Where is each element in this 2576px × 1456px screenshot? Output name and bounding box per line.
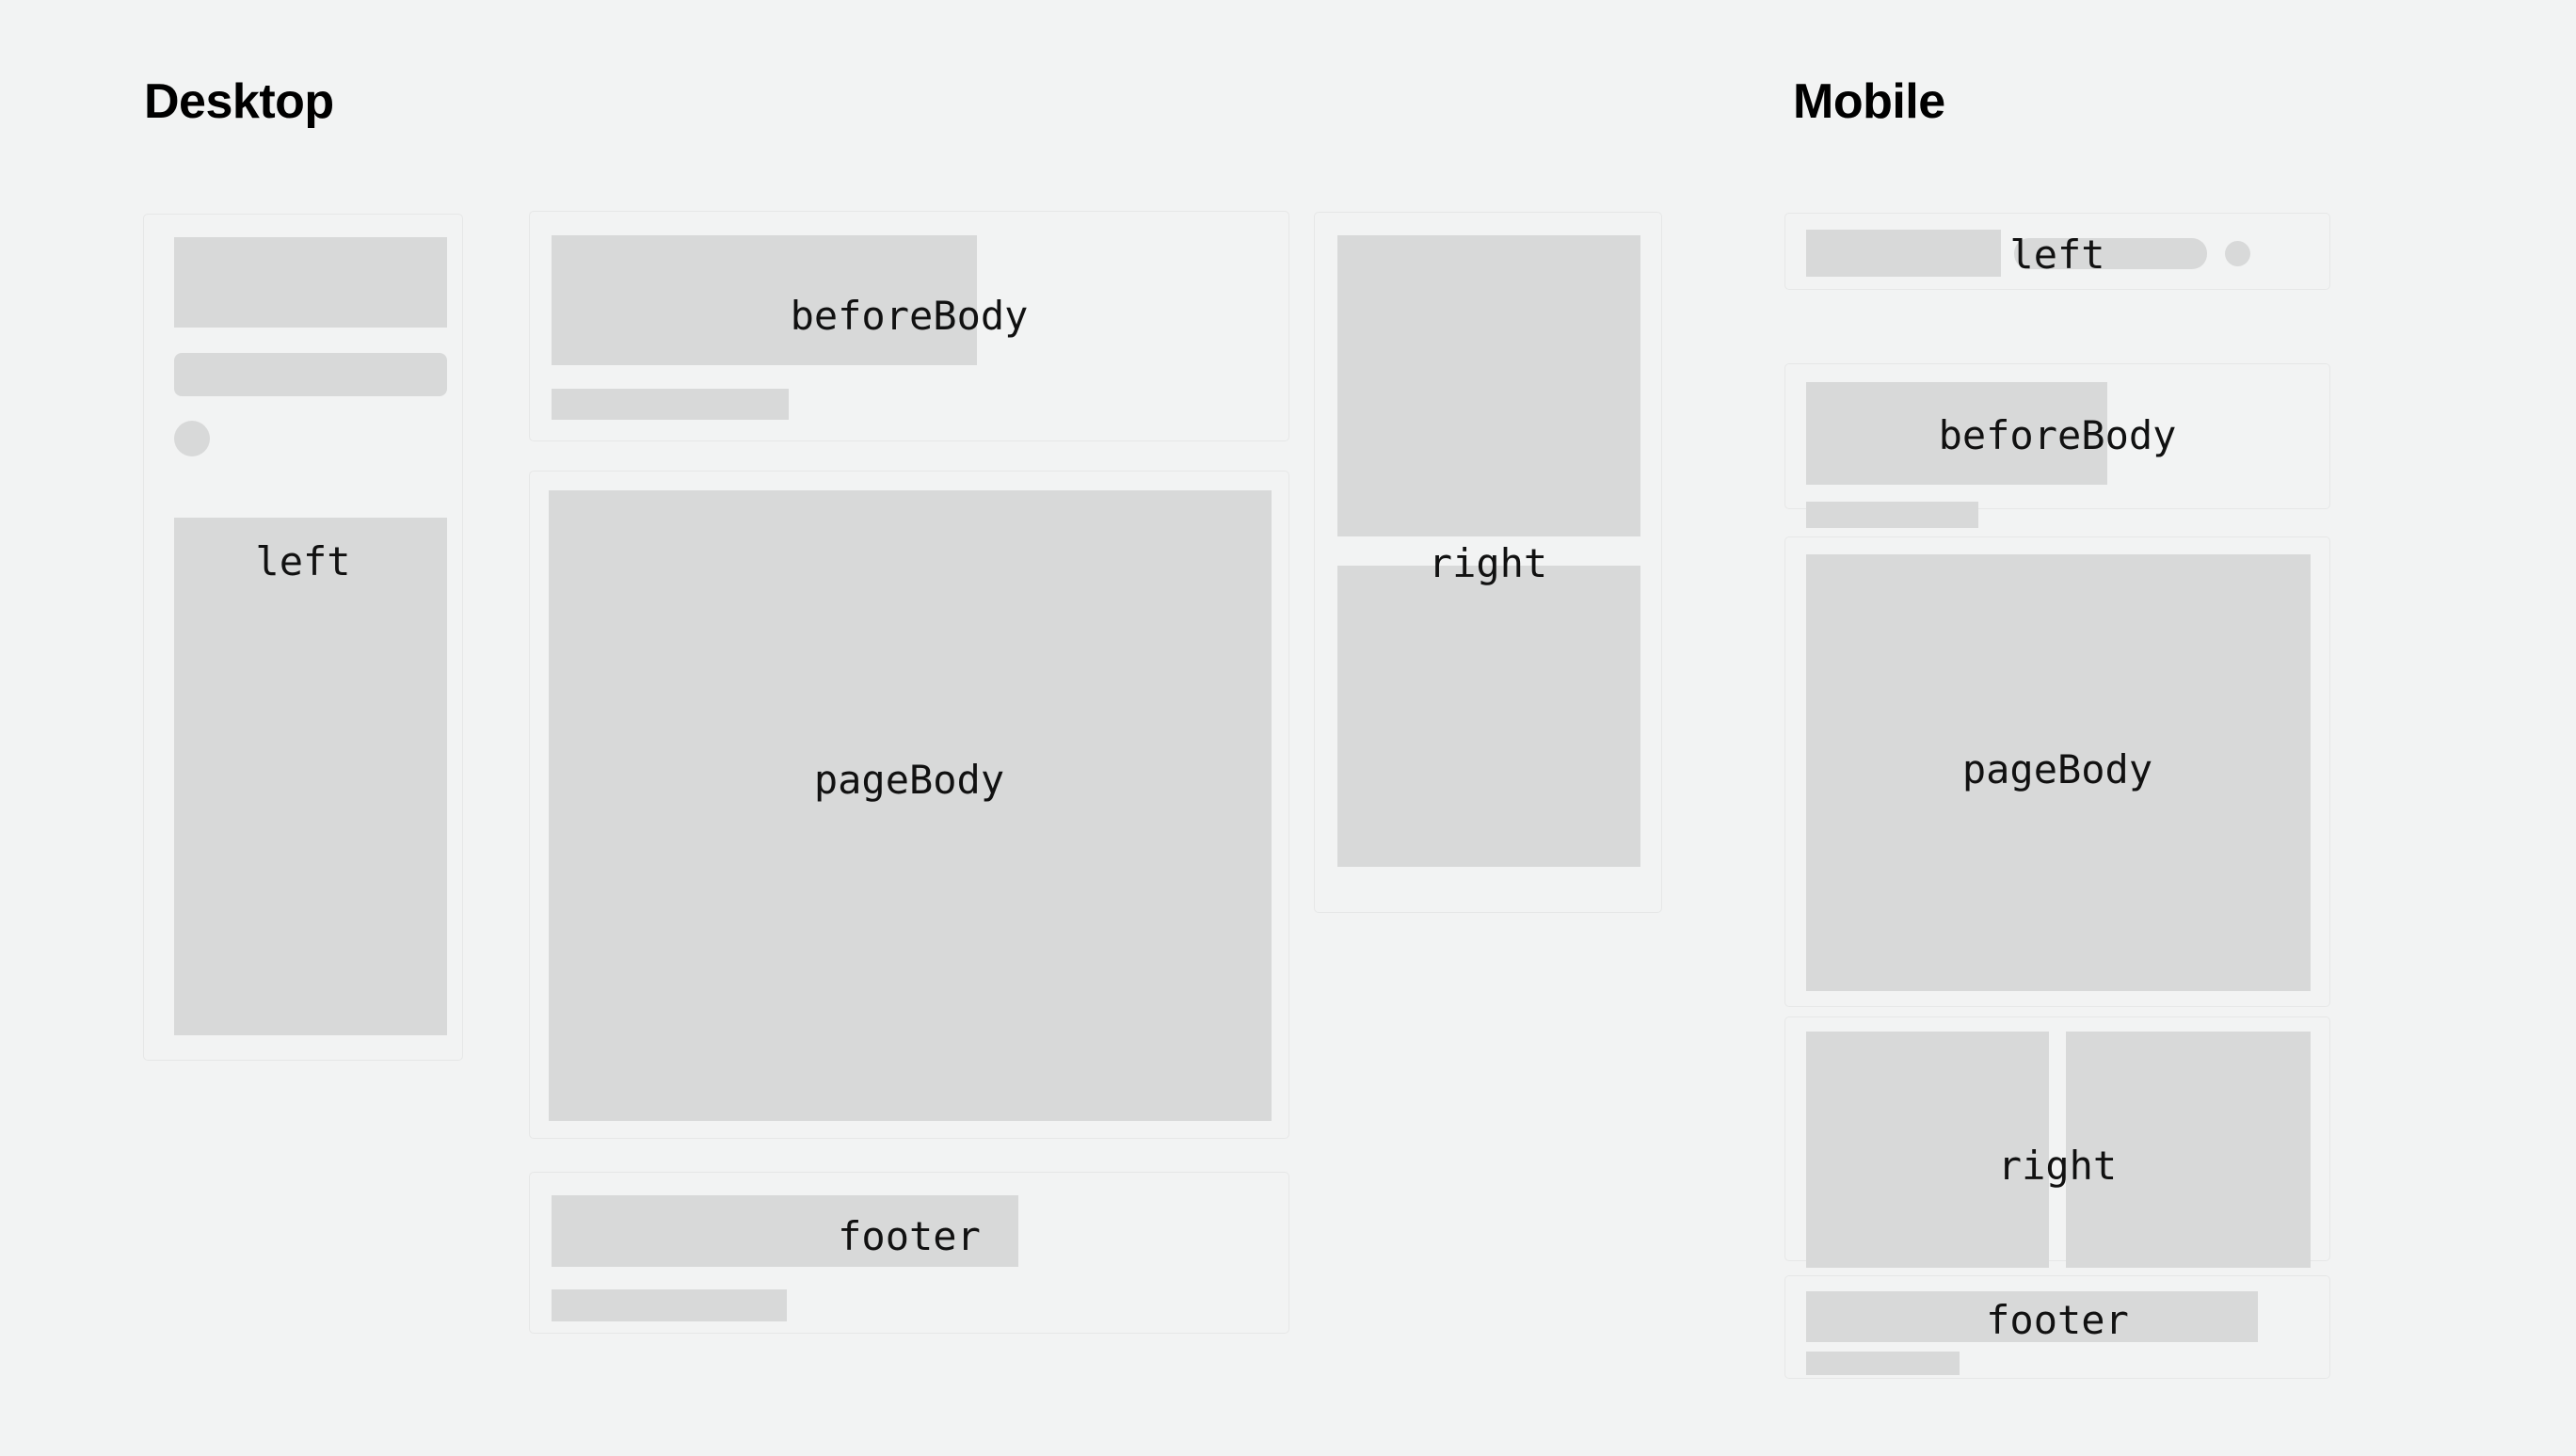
skeleton-pill [2014, 238, 2207, 269]
skeleton-block-large [549, 490, 1272, 1121]
skeleton-block-tall [174, 518, 447, 1035]
skeleton-block-large [1806, 554, 2311, 991]
skeleton-block [174, 237, 447, 328]
skeleton-block [1337, 235, 1640, 536]
skeleton-block [1806, 382, 2107, 485]
desktop-left-slot-panel[interactable] [143, 214, 463, 1061]
mobile-footer-slot-panel[interactable] [1784, 1275, 2330, 1379]
skeleton-block [1337, 566, 1640, 867]
skeleton-block [552, 1195, 1018, 1267]
skeleton-pill [174, 353, 447, 396]
skeleton-block [1806, 1032, 2049, 1268]
skeleton-bar [552, 1289, 787, 1321]
skeleton-circle-avatar [2225, 241, 2250, 266]
mobile-right-slot-panel[interactable] [1784, 1016, 2330, 1261]
skeleton-bar [1806, 1352, 1960, 1375]
mobile-page-body-slot-panel[interactable] [1784, 536, 2330, 1007]
skeleton-block [2066, 1032, 2311, 1268]
page-title-mobile: Mobile [1793, 77, 1945, 126]
skeleton-bar [1806, 502, 1978, 528]
skeleton-circle-avatar [174, 421, 210, 456]
desktop-right-slot-panel[interactable] [1314, 212, 1662, 913]
mobile-left-slot-panel[interactable] [1784, 213, 2330, 290]
skeleton-block [1806, 1291, 2258, 1342]
desktop-before-body-slot-panel[interactable] [529, 211, 1289, 441]
desktop-footer-slot-panel[interactable] [529, 1172, 1289, 1334]
skeleton-block [552, 235, 977, 365]
page-title-desktop: Desktop [144, 77, 334, 126]
skeleton-bar [552, 389, 789, 420]
desktop-page-body-slot-panel[interactable] [529, 471, 1289, 1139]
mobile-before-body-slot-panel[interactable] [1784, 363, 2330, 509]
skeleton-block [1806, 230, 2001, 277]
